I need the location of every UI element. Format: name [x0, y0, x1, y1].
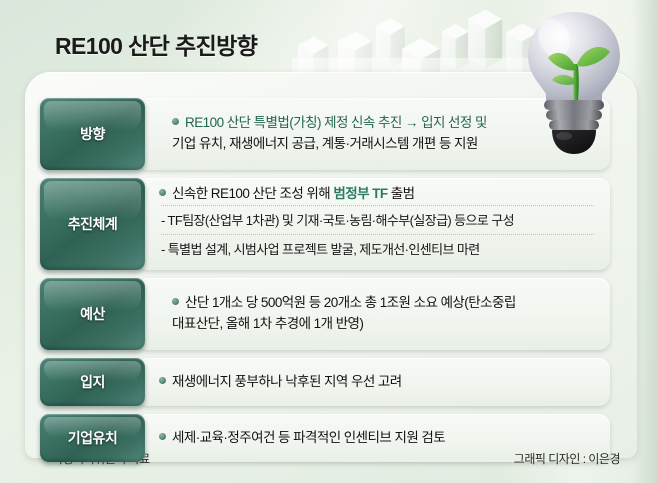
table-row: 입지 재생에너지 풍부하나 낙후된 지역 우선 고려	[40, 358, 610, 406]
content-text: 신속한 RE100 산단 조성 위해	[172, 186, 333, 201]
credit-text: 그래픽 디자인 : 이은경	[514, 450, 620, 467]
content-text: 재생에너지 풍부하나 낙후된 지역 우선 고려	[172, 374, 402, 389]
row-label-text: 기업유치	[68, 428, 118, 448]
row-content: 신속한 RE100 산단 조성 위해 범정부 TF 출범 - TF팀장(산업부 …	[137, 178, 610, 270]
content-line: 신속한 RE100 산단 조성 위해 범정부 TF 출범	[159, 184, 596, 205]
table-row: 추진체계 신속한 RE100 산단 조성 위해 범정부 TF 출범 - TF팀장…	[40, 178, 610, 270]
lightbulb-sprout-icon	[516, 6, 632, 158]
content-text-continued: 대표산단, 올해 1차 추경에 1개 반영)	[172, 314, 596, 335]
bullet-icon	[172, 298, 179, 305]
content-line: 세제·교육·정주여건 등 파격적인 인센티브 지원 검토	[159, 428, 596, 449]
row-label-text: 예산	[80, 304, 105, 324]
bullet-icon	[159, 377, 166, 384]
row-content: 재생에너지 풍부하나 낙후된 지역 우선 고려	[137, 358, 610, 406]
content-subline: - TF팀장(산업부 1차관) 및 기재·국토·농림·해수부(실장급) 등으로 …	[159, 206, 596, 235]
row-label-text: 추진체계	[68, 214, 118, 234]
content-line: 재생에너지 풍부하나 낙후된 지역 우선 고려	[159, 372, 596, 393]
row-content: 산단 1개소 당 500억원 등 20개소 총 1조원 소요 예상(탄소중립 대…	[137, 278, 610, 350]
content-text: RE100 산단 특별법(가칭) 제정 신속 추진 → 입지 선정 및	[185, 115, 487, 130]
bullet-icon	[172, 118, 179, 125]
content-highlight: 범정부 TF	[333, 186, 387, 201]
row-label-text: 입지	[80, 372, 105, 392]
row-label-chip[interactable]: 추진체계	[40, 178, 145, 270]
page-title: RE100 산단 추진방향	[55, 27, 257, 61]
row-label-chip[interactable]: 예산	[40, 278, 145, 350]
row-label-chip[interactable]: 방향	[40, 98, 145, 170]
infographic-poster: RE100 산단 추진방향 방향 RE100 산단 특별법(가칭) 제정 신속 …	[0, 0, 658, 483]
content-text-after: 출범	[388, 186, 415, 201]
content-line: 산단 1개소 당 500억원 등 20개소 총 1조원 소요 예상(탄소중립 대…	[159, 293, 596, 335]
content-text: 세제·교육·정주여건 등 파격적인 인센티브 지원 검토	[172, 430, 445, 445]
content-subline: - 특별법 설계, 시범사업 프로젝트 발굴, 제도개선·인센티브 마련	[159, 235, 596, 264]
row-label-chip[interactable]: 기업유치	[40, 414, 145, 462]
bullet-icon	[159, 433, 166, 440]
row-label-text: 방향	[80, 124, 105, 144]
table-row: 예산 산단 1개소 당 500억원 등 20개소 총 1조원 소요 예상(탄소중…	[40, 278, 610, 350]
row-label-chip[interactable]: 입지	[40, 358, 145, 406]
content-text: 산단 1개소 당 500억원 등 20개소 총 1조원 소요 예상(탄소중립	[185, 295, 516, 310]
bullet-icon	[159, 189, 166, 196]
